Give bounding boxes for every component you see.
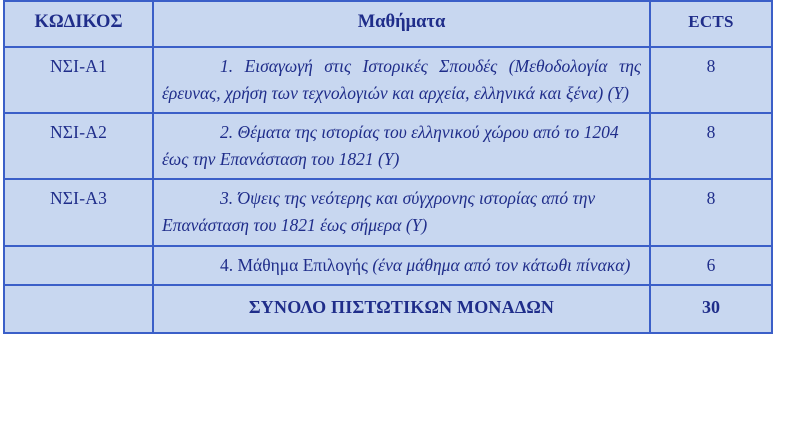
course-title: 4. Μάθημα Επιλογής (ένα μάθημα από τον κ… [153, 246, 650, 286]
table-row: ΝΣΙ-Α3 3. Όψεις της νεότερης και σύγχρον… [4, 179, 772, 245]
table-row: 4. Μάθημα Επιλογής (ένα μάθημα από τον κ… [4, 246, 772, 286]
course-number: 1. [220, 56, 233, 76]
course-title-text: Εισαγωγή στις Ιστορικές Σπουδές (Μεθοδολ… [162, 56, 641, 103]
course-title: 2. Θέματα της ιστορίας του ελληνικού χώρ… [153, 113, 650, 179]
course-title-text: Μάθημα Επιλογής [238, 255, 368, 275]
course-ects: 6 [650, 246, 772, 286]
total-credits-value: 30 [650, 285, 772, 332]
table-row: ΝΣΙ-Α2 2. Θέματα της ιστορίας του ελληνι… [4, 113, 772, 179]
course-ects: 8 [650, 47, 772, 113]
course-title-note: (ένα μάθημα από τον κάτωθι πίνακα) [372, 255, 630, 275]
course-number: 4. [220, 255, 233, 275]
total-credits-label: ΣΥΝΟΛΟ ΠΙΣΤΩΤΙΚΩΝ ΜΟΝΑΔΩΝ [153, 285, 650, 332]
course-ects: 8 [650, 179, 772, 245]
course-number: 3. [220, 188, 233, 208]
course-code: ΝΣΙ-Α1 [4, 47, 153, 113]
column-header-code: ΚΩΔΙΚΟΣ [4, 1, 153, 47]
table-header-row: ΚΩΔΙΚΟΣ Μαθήματα ECTS [4, 1, 772, 47]
total-code-empty [4, 285, 153, 332]
course-ects: 8 [650, 113, 772, 179]
course-code [4, 246, 153, 286]
course-title: 3. Όψεις της νεότερης και σύγχρονης ιστο… [153, 179, 650, 245]
course-code: ΝΣΙ-Α3 [4, 179, 153, 245]
curriculum-table-container: ΚΩΔΙΚΟΣ Μαθήματα ECTS ΝΣΙ-Α1 1. Εισαγωγή… [0, 0, 792, 445]
course-code: ΝΣΙ-Α2 [4, 113, 153, 179]
course-number: 2. [220, 122, 233, 142]
curriculum-table: ΚΩΔΙΚΟΣ Μαθήματα ECTS ΝΣΙ-Α1 1. Εισαγωγή… [3, 0, 773, 334]
column-header-course: Μαθήματα [153, 1, 650, 47]
table-total-row: ΣΥΝΟΛΟ ΠΙΣΤΩΤΙΚΩΝ ΜΟΝΑΔΩΝ 30 [4, 285, 772, 332]
column-header-ects: ECTS [650, 1, 772, 47]
course-title: 1. Εισαγωγή στις Ιστορικές Σπουδές (Μεθο… [153, 47, 650, 113]
table-row: ΝΣΙ-Α1 1. Εισαγωγή στις Ιστορικές Σπουδέ… [4, 47, 772, 113]
